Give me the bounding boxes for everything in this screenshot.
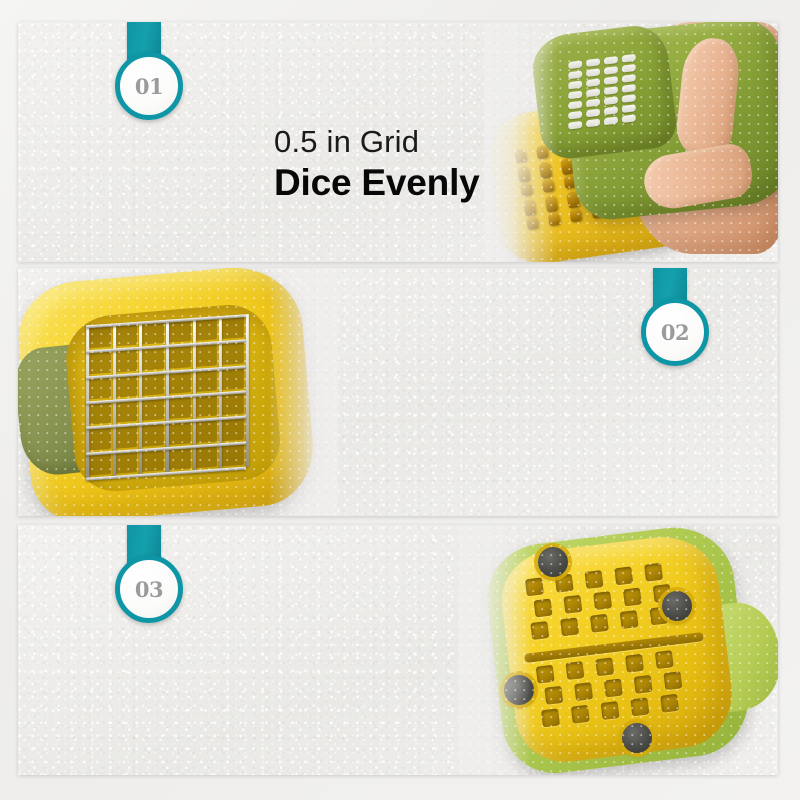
basket-slot <box>604 96 618 105</box>
underside-cell <box>534 598 553 617</box>
grid-cell <box>221 393 244 416</box>
underside-cell <box>560 617 579 636</box>
grid-cell <box>115 349 138 372</box>
basket-slot <box>586 109 600 118</box>
feature-panel-3: Silicone Anti-slip Pad 03 <box>18 525 778 775</box>
underside-cell <box>563 595 582 614</box>
grid-cell <box>168 371 191 394</box>
grid-cell <box>88 453 111 476</box>
grid-cell <box>168 320 191 343</box>
basket-slot <box>586 119 600 128</box>
underside-cell <box>663 671 682 690</box>
product-feature-infographic: 0.5 in Grid Dice Evenly 01 Detachable Ba… <box>0 0 800 800</box>
step-badge-2: 02 <box>637 268 703 378</box>
underside-cell <box>541 708 560 727</box>
grid-cell <box>221 342 244 365</box>
basket-slot <box>604 56 618 65</box>
feature-panel-2: Detachable Base Easy to Clean 02 <box>18 268 778 516</box>
basket-slot <box>568 101 582 110</box>
grid-cell <box>221 443 244 466</box>
grid-cell <box>195 318 218 341</box>
badge-number-1: 01 <box>135 76 163 97</box>
underside-cell <box>574 682 593 701</box>
badge-circle-2: 02 <box>641 298 709 366</box>
grid-cell <box>141 424 164 447</box>
grid-cell <box>221 418 244 441</box>
silicone-foot <box>662 591 692 621</box>
underside-cell <box>571 705 590 724</box>
grid-cell <box>168 422 191 445</box>
underside-cell <box>660 694 679 713</box>
underside-cell <box>614 566 633 585</box>
badge-circle-3: 03 <box>115 555 183 623</box>
silicone-foot <box>538 547 568 577</box>
grid-cell <box>168 345 191 368</box>
basket-slot <box>568 111 582 120</box>
basket-slot <box>568 121 582 130</box>
feature-panel-1: 0.5 in Grid Dice Evenly 01 <box>18 22 778 262</box>
grid-cell <box>88 427 111 450</box>
underside-cell <box>604 679 623 698</box>
basket-slot <box>604 106 618 115</box>
basket-slot <box>622 94 636 103</box>
grid-cell <box>115 400 138 423</box>
underside-cell <box>595 657 614 676</box>
grid-cell <box>168 396 191 419</box>
grid-cell <box>115 324 138 347</box>
underside-cell <box>536 665 555 684</box>
underside-cell <box>644 563 663 582</box>
grid-slots <box>568 53 639 136</box>
basket-slot <box>586 68 600 77</box>
grid-cell <box>115 425 138 448</box>
badge-number-3: 03 <box>135 579 163 600</box>
grid-cell <box>195 394 218 417</box>
grid-cell <box>88 376 111 399</box>
underside-cell <box>555 574 574 593</box>
grid-cell <box>141 449 164 472</box>
basket-slot <box>568 60 582 69</box>
badge-number-2: 02 <box>661 322 689 343</box>
basket-slot <box>568 81 582 90</box>
basket-slot <box>622 74 636 83</box>
grid-cell <box>88 402 111 425</box>
grid-cell <box>141 398 164 421</box>
basket-slot <box>604 76 618 85</box>
grid-cell <box>195 445 218 468</box>
basket-slot <box>622 114 636 123</box>
silicone-foot <box>622 723 652 753</box>
underside-cell <box>634 675 653 694</box>
basket-slot <box>604 86 618 95</box>
underside-cell <box>590 614 609 633</box>
underside-cell <box>530 621 549 640</box>
feature-title-1: Dice Evenly <box>274 162 480 205</box>
step-badge-3: 03 <box>111 525 177 635</box>
underside-cell <box>585 570 604 589</box>
grid-wire-vertical <box>246 314 249 467</box>
underside-cell <box>601 701 620 720</box>
product-photo-1 <box>484 22 778 262</box>
photo-left-fade <box>458 525 532 775</box>
feature-caption-1: 0.5 in Grid Dice Evenly <box>274 124 480 205</box>
grid-cell <box>88 326 111 349</box>
underside-cell <box>625 654 644 673</box>
grid-cell <box>195 344 218 367</box>
basket-slot <box>586 58 600 67</box>
underside-cell <box>623 588 642 607</box>
grid-cell <box>221 316 244 339</box>
basket-slot <box>586 78 600 87</box>
grid-cell <box>195 369 218 392</box>
basket-slot <box>622 64 636 73</box>
grid-cell <box>115 451 138 474</box>
grid-cell <box>195 420 218 443</box>
basket-slot <box>604 116 618 125</box>
underside-cell <box>620 610 639 629</box>
grid-cell <box>168 447 191 470</box>
grid-cell <box>88 351 111 374</box>
underside-cell <box>593 591 612 610</box>
basket-slot <box>586 88 600 97</box>
basket-slot <box>568 91 582 100</box>
basket-slot <box>586 99 600 108</box>
blade-tooth <box>569 208 582 223</box>
grid-cell <box>141 373 164 396</box>
photo-left-fade <box>484 22 558 262</box>
basket-slot <box>604 66 618 75</box>
underside-cell <box>630 697 649 716</box>
badge-circle-1: 01 <box>115 52 183 120</box>
basket-slot <box>622 104 636 113</box>
product-photo-3 <box>458 525 778 775</box>
product-photo-2 <box>18 268 338 516</box>
underside-cell <box>544 686 563 705</box>
underside-cell <box>565 661 584 680</box>
grid-cell <box>115 375 138 398</box>
basket-slot <box>568 70 582 79</box>
grid-cell <box>141 347 164 370</box>
feature-subtitle-1: 0.5 in Grid <box>274 124 480 160</box>
steel-grid-blade <box>86 314 246 478</box>
underside-cell <box>655 650 674 669</box>
grid-cell <box>141 322 164 345</box>
step-badge-1: 01 <box>111 22 177 132</box>
photo-right-fade <box>268 268 338 516</box>
basket-slot <box>622 84 636 93</box>
basket-slot <box>622 54 636 63</box>
grid-cell <box>221 367 244 390</box>
